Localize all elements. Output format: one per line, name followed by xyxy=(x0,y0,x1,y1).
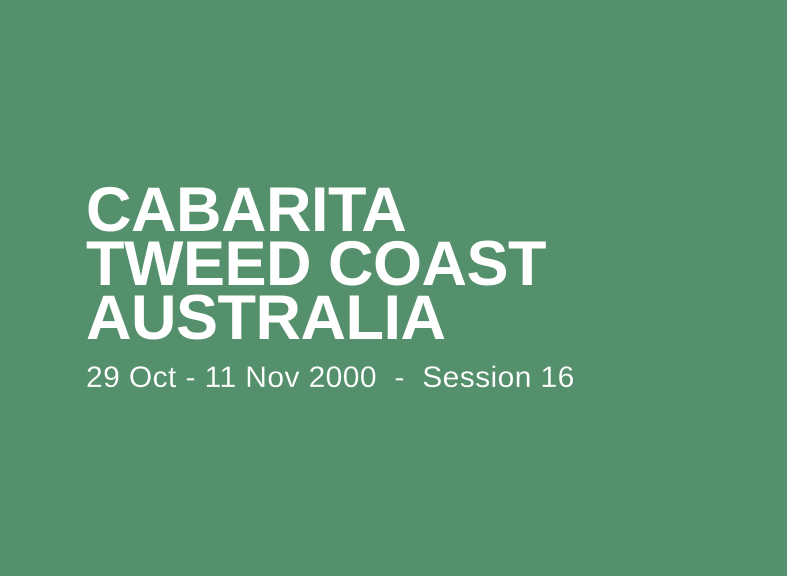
subtitle-date-session: 29 Oct - 11 Nov 2000 - Session 16 xyxy=(86,359,726,397)
headline-line-3: AUSTRALIA xyxy=(86,291,726,345)
title-block: CABARITA TWEED COAST AUSTRALIA 29 Oct - … xyxy=(86,183,726,397)
page-title: CABARITA TWEED COAST AUSTRALIA xyxy=(86,183,726,345)
title-slide: CABARITA TWEED COAST AUSTRALIA 29 Oct - … xyxy=(0,0,787,576)
